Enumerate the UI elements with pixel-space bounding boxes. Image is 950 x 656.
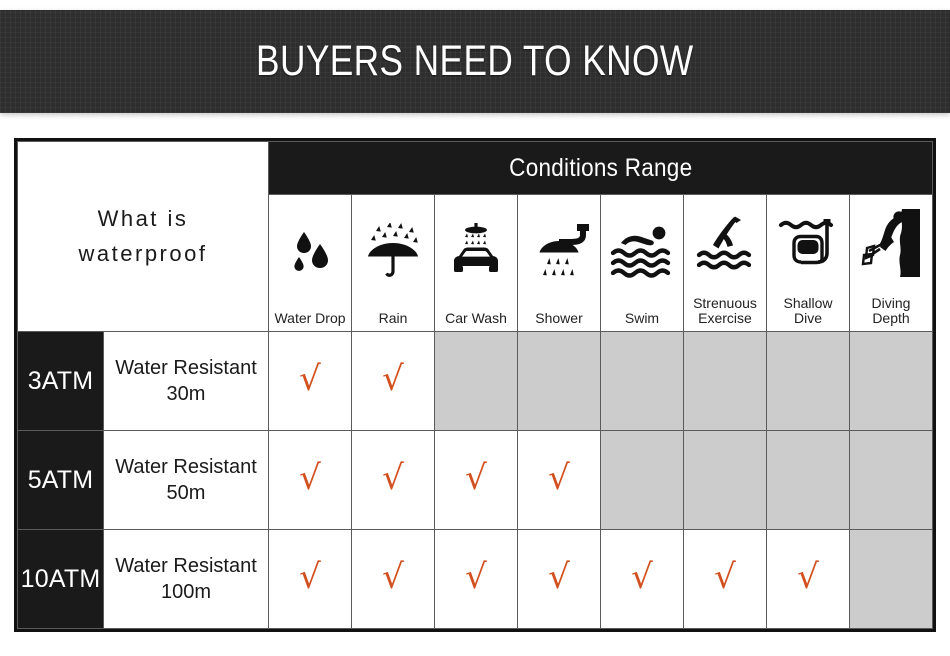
rating-description-line1: Water Resistant — [104, 454, 268, 480]
supported-cell: √ — [518, 431, 601, 530]
column-header-label: Swim — [625, 311, 659, 331]
supported-cell: √ — [435, 530, 518, 629]
column-header-car-wash: Car Wash — [435, 195, 518, 332]
unsupported-cell — [518, 332, 601, 431]
supported-cell: √ — [435, 431, 518, 530]
unsupported-cell — [767, 332, 850, 431]
supported-cell: √ — [684, 530, 767, 629]
supported-cell: √ — [269, 431, 352, 530]
supported-cell: √ — [352, 332, 435, 431]
supported-cell: √ — [269, 530, 352, 629]
column-header-strenuous-exercise: StrenuousExercise — [684, 195, 767, 332]
diving-entry-icon — [684, 195, 766, 294]
rating-description-line2: 50m — [104, 480, 268, 506]
supported-cell: √ — [601, 530, 684, 629]
corner-label-cell: What iswaterproof — [18, 142, 269, 332]
table-row: 10ATMWater Resistant100m√√√√√√√ — [18, 530, 933, 629]
rating-description-line2: 100m — [104, 579, 268, 605]
rating-description-line1: Water Resistant — [104, 355, 268, 381]
conditions-range-header: Conditions Range — [269, 142, 933, 195]
rating-description-line1: Water Resistant — [104, 553, 268, 579]
atm-rating-cell: 10ATM — [18, 530, 104, 629]
check-icon: √ — [299, 461, 321, 495]
unsupported-cell — [850, 530, 933, 629]
supported-cell: √ — [352, 530, 435, 629]
conditions-range-label: Conditions Range — [509, 154, 692, 183]
rating-description-cell: Water Resistant30m — [104, 332, 269, 431]
column-header-shower: Shower — [518, 195, 601, 332]
column-header-label: Car Wash — [445, 311, 507, 331]
check-icon: √ — [548, 560, 570, 594]
water-drop-icon — [269, 195, 351, 309]
atm-rating-cell: 5ATM — [18, 431, 104, 530]
check-icon: √ — [631, 560, 653, 594]
unsupported-cell — [684, 431, 767, 530]
check-icon: √ — [465, 560, 487, 594]
column-header-diving-depth: DivingDepth — [850, 195, 933, 332]
column-header-shallow-dive: ShallowDive — [767, 195, 850, 332]
check-icon: √ — [382, 362, 404, 396]
car-wash-icon — [435, 195, 517, 309]
check-icon: √ — [714, 560, 736, 594]
table-row: 5ATMWater Resistant50m√√√√ — [18, 431, 933, 530]
table-row: 3ATMWater Resistant30m√√ — [18, 332, 933, 431]
column-header-label: DivingDepth — [872, 296, 911, 331]
check-icon: √ — [797, 560, 819, 594]
check-icon: √ — [382, 461, 404, 495]
atm-badge: 5ATM — [18, 431, 103, 529]
swimmer-icon — [601, 195, 683, 309]
unsupported-cell — [850, 332, 933, 431]
scuba-diver-icon — [850, 195, 932, 294]
banner-title: BUYERS NEED TO KNOW — [256, 40, 694, 83]
column-header-rain: Rain — [352, 195, 435, 332]
column-header-label: Water Drop — [274, 311, 345, 331]
column-header-label: ShallowDive — [783, 296, 832, 331]
check-icon: √ — [465, 461, 487, 495]
unsupported-cell — [767, 431, 850, 530]
check-icon: √ — [382, 560, 404, 594]
check-icon: √ — [299, 362, 321, 396]
rating-description-cell: Water Resistant50m — [104, 431, 269, 530]
unsupported-cell — [601, 431, 684, 530]
supported-cell: √ — [352, 431, 435, 530]
supported-cell: √ — [269, 332, 352, 431]
supported-cell: √ — [767, 530, 850, 629]
rating-description-cell: Water Resistant100m — [104, 530, 269, 629]
column-header-label: StrenuousExercise — [693, 296, 757, 331]
column-header-swim: Swim — [601, 195, 684, 332]
shower-head-icon — [518, 195, 600, 309]
unsupported-cell — [684, 332, 767, 431]
check-icon: √ — [299, 560, 321, 594]
unsupported-cell — [850, 431, 933, 530]
atm-rating-cell: 3ATM — [18, 332, 104, 431]
unsupported-cell — [435, 332, 518, 431]
atm-badge: 10ATM — [18, 530, 103, 628]
corner-label-line1: What is — [18, 202, 268, 236]
column-header-label: Shower — [535, 311, 582, 331]
unsupported-cell — [601, 332, 684, 431]
supported-cell: √ — [518, 530, 601, 629]
check-icon: √ — [548, 461, 570, 495]
snorkel-mask-icon — [767, 195, 849, 294]
table-header-row-top: What iswaterproofConditions Range — [18, 142, 933, 195]
rating-description-line2: 30m — [104, 381, 268, 407]
atm-badge: 3ATM — [18, 332, 103, 430]
page-banner: BUYERS NEED TO KNOW — [0, 10, 950, 113]
corner-label-line2: waterproof — [18, 237, 268, 271]
umbrella-rain-icon — [352, 195, 434, 309]
waterproof-rating-table: What iswaterproofConditions Range Water … — [14, 138, 936, 632]
column-header-water-drop: Water Drop — [269, 195, 352, 332]
column-header-label: Rain — [379, 311, 408, 331]
